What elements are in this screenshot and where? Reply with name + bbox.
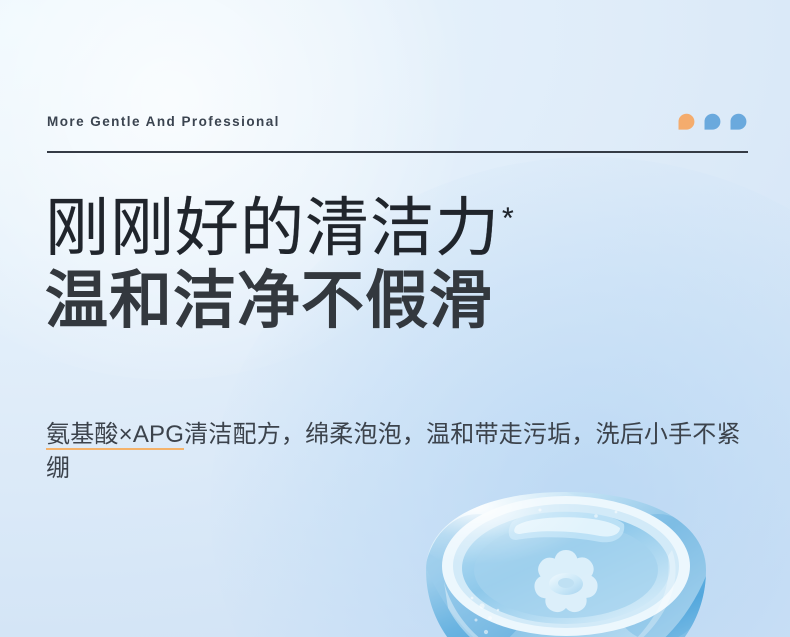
- eyebrow-text: More Gentle And Professional: [47, 114, 280, 129]
- header-divider: [47, 151, 748, 153]
- promo-poster: More Gentle And Professional 刚刚好的清洁力*: [0, 0, 790, 637]
- body-highlight-phrase: 氨基酸×APG: [46, 421, 184, 450]
- droplet-icon-orange: [677, 112, 696, 131]
- droplet-decoration-group: [677, 112, 748, 131]
- headline-primary-text: 刚刚好的清洁力: [45, 192, 500, 264]
- eyebrow-row: More Gentle And Professional: [47, 108, 748, 134]
- headline-asterisk: *: [502, 202, 514, 235]
- headline-secondary: 温和洁净不假滑: [45, 270, 765, 333]
- headline-block: 刚刚好的清洁力* 温和洁净不假滑: [45, 196, 765, 333]
- droplet-icon-blue-2: [729, 112, 748, 131]
- droplet-icon-blue-1: [703, 112, 722, 131]
- product-image-blue-bowl: [420, 486, 710, 637]
- body-paragraph: 氨基酸×APG清洁配方，绵柔泡泡，温和带走污垢，洗后小手不紧绷: [46, 418, 746, 486]
- headline-primary: 刚刚好的清洁力*: [45, 196, 765, 260]
